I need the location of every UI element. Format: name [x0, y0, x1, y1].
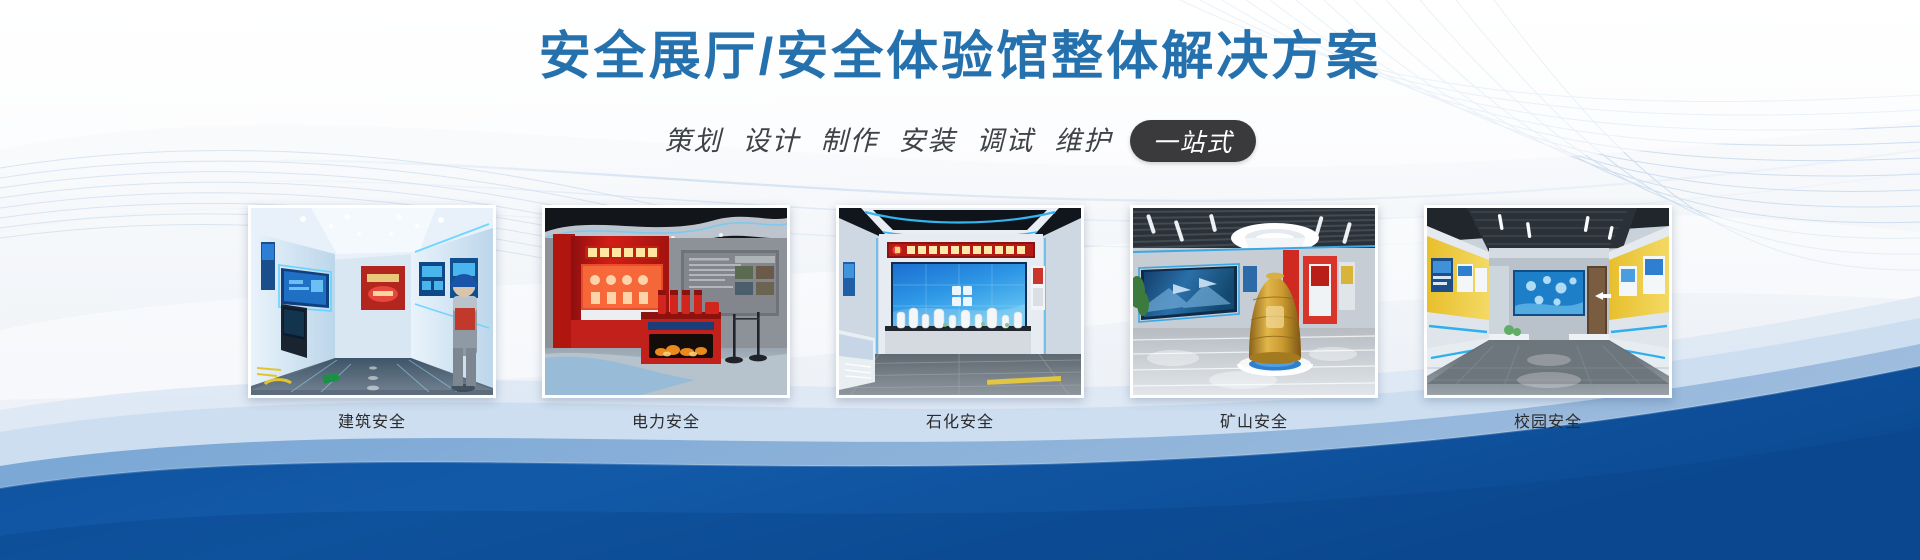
thumbnail-frame[interactable] [836, 205, 1084, 398]
service-step-commissioning: 调试 [976, 124, 1034, 158]
service-step-installation: 安装 [898, 124, 956, 158]
one-stop-badge: 一站式 [1130, 120, 1255, 162]
thumbnail-image-petrochemical-safety [839, 208, 1081, 395]
page-title: 安全展厅/安全体验馆整体解决方案 [0, 0, 1920, 88]
headline-container: 安全展厅/安全体验馆整体解决方案 [0, 0, 1920, 88]
thumbnail-item[interactable]: 校园安全 [1424, 205, 1672, 434]
thumbnail-image-power-safety [545, 208, 787, 395]
safety-exhibition-banner: 安全展厅/安全体验馆整体解决方案 策划 设计 制作 安装 调试 维护 一站式 [0, 0, 1920, 560]
thumbnail-caption: 电力安全 [632, 412, 700, 434]
thumbnail-caption: 石化安全 [926, 412, 994, 434]
thumbnail-item[interactable]: 矿山安全 [1130, 205, 1378, 434]
thumbnail-frame[interactable] [1424, 205, 1672, 398]
thumbnail-item[interactable]: 电力安全 [542, 205, 790, 434]
service-step-design: 设计 [742, 124, 800, 158]
thumbnail-caption: 校园安全 [1514, 412, 1582, 434]
thumbnail-image-campus-safety [1427, 208, 1669, 395]
thumbnail-item[interactable]: 建筑安全 [248, 205, 496, 434]
thumbnail-frame[interactable] [1130, 205, 1378, 398]
thumbnail-frame[interactable] [248, 205, 496, 398]
thumbnail-frame[interactable] [542, 205, 790, 398]
thumbnail-caption: 矿山安全 [1220, 412, 1288, 434]
thumbnail-image-construction-safety [251, 208, 493, 395]
exhibition-thumbnail-gallery: 建筑安全 [0, 205, 1920, 434]
service-step-production: 制作 [820, 124, 878, 158]
thumbnail-item[interactable]: 石化安全 [836, 205, 1084, 434]
service-steps-list: 策划 设计 制作 安装 调试 维护 [664, 124, 1112, 158]
service-step-maintenance: 维护 [1054, 124, 1112, 158]
thumbnail-image-mining-safety [1133, 208, 1375, 395]
thumbnail-caption: 建筑安全 [338, 412, 406, 434]
service-step-planning: 策划 [664, 124, 722, 158]
subtitle-row: 策划 设计 制作 安装 调试 维护 一站式 [0, 120, 1920, 162]
